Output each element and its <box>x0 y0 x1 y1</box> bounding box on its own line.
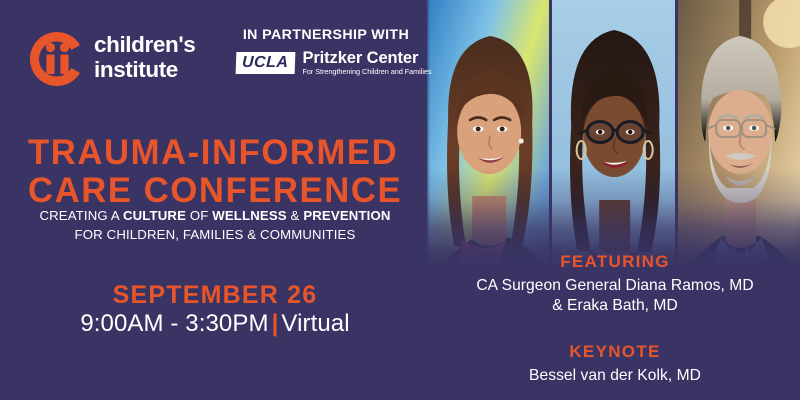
featuring-name-1: CA Surgeon General Diana Ramos, MD <box>476 277 753 294</box>
event-date: SEPTEMBER 26 <box>0 281 430 310</box>
tagline-line1: CREATING A CULTURE OF WELLNESS & PREVENT… <box>39 208 390 223</box>
left-content-panel: children's institute IN PARTNERSHIP WITH… <box>0 0 430 400</box>
brand-name-line2: institute <box>94 57 195 82</box>
tagline-seg-culture: CULTURE <box>123 208 186 223</box>
event-tagline: CREATING A CULTURE OF WELLNESS & PREVENT… <box>0 206 430 244</box>
keynote-heading: KEYNOTE <box>430 342 800 362</box>
brand-name-line1: children's <box>94 32 195 57</box>
featuring-name-2: & Eraka Bath, MD <box>430 296 800 316</box>
pritzker-center-name: Pritzker Center <box>302 50 431 67</box>
featuring-names: CA Surgeon General Diana Ramos, MD & Era… <box>430 276 800 316</box>
time-format-separator: | <box>269 310 282 337</box>
conference-promo-banner: children's institute IN PARTNERSHIP WITH… <box>0 0 800 400</box>
event-title-line2: CARE CONFERENCE <box>28 172 402 210</box>
tagline-line2: FOR CHILDREN, FAMILIES & COMMUNITIES <box>0 225 430 244</box>
keynote-name: Bessel van der Kolk, MD <box>430 366 800 386</box>
childrens-institute-c-mark-icon <box>26 28 88 90</box>
event-time-format: 9:00AM - 3:30PM|Virtual <box>0 310 430 338</box>
keynote-group: KEYNOTE Bessel van der Kolk, MD <box>430 342 800 386</box>
featuring-heading: FEATURING <box>430 252 800 272</box>
pritzker-center-tagline: For Strengthening Children and Families <box>302 68 431 75</box>
tagline-seg-of: OF <box>186 208 212 223</box>
partnership-kicker: IN PARTNERSHIP WITH <box>236 27 416 43</box>
partnership-block: IN PARTNERSHIP WITH UCLA Pritzker Center… <box>236 27 416 75</box>
childrens-institute-logo[interactable]: children's institute <box>26 26 216 92</box>
pritzker-center-lockup: Pritzker Center For Strengthening Childr… <box>302 50 431 75</box>
ucla-pritzker-lockup[interactable]: UCLA Pritzker Center For Strengthening C… <box>236 50 416 75</box>
childrens-institute-wordmark: children's institute <box>94 32 195 82</box>
event-title-line1: TRAUMA-INFORMED <box>28 133 398 172</box>
event-title: TRAUMA-INFORMED CARE CONFERENCE <box>28 134 402 210</box>
speaker-credits: FEATURING CA Surgeon General Diana Ramos… <box>430 252 800 386</box>
tagline-seg-prevention: PREVENTION <box>303 208 390 223</box>
tagline-seg-wellness: WELLNESS <box>212 208 286 223</box>
tagline-seg-amp: & <box>287 208 304 223</box>
ucla-logo-badge: UCLA <box>236 52 296 74</box>
featuring-group: FEATURING CA Surgeon General Diana Ramos… <box>430 252 800 316</box>
event-format: Virtual <box>281 310 349 337</box>
tagline-seg-creating: CREATING A <box>39 208 122 223</box>
event-time: 9:00AM - 3:30PM <box>80 310 268 337</box>
